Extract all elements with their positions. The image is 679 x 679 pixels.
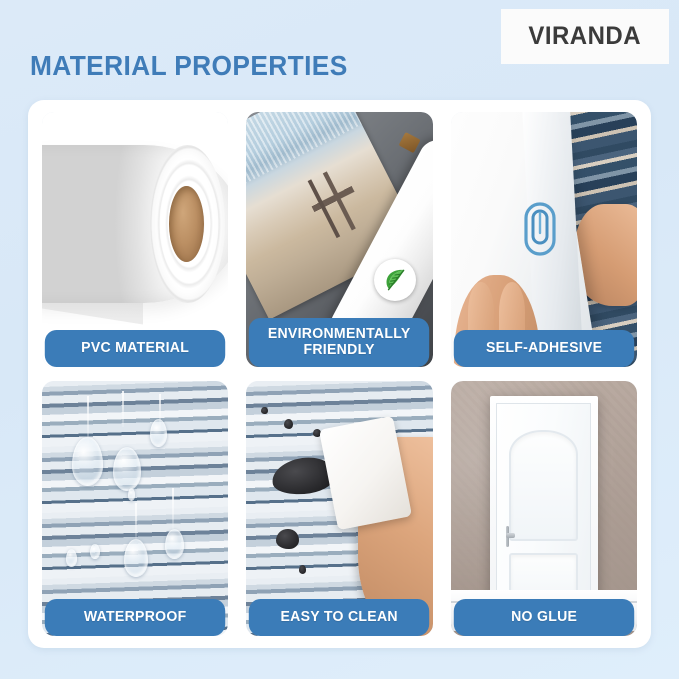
- feature-label-easy-to-clean: EASY TO CLEAN: [249, 599, 430, 636]
- page-title: MATERIAL PROPERTIES: [30, 50, 348, 82]
- feature-label-pvc-material: PVC MATERIAL: [45, 330, 226, 367]
- feature-tile-pvc-material[interactable]: PVC MATERIAL: [42, 112, 228, 367]
- brand-logo-box: VIRANDA: [501, 9, 669, 64]
- feature-tile-self-adhesive[interactable]: SELF-ADHESIVE: [451, 112, 637, 367]
- leaf-icon: [374, 259, 416, 301]
- feature-tile-environmentally-friendly[interactable]: ENVIRONMENTALLY FRIENDLY: [246, 112, 432, 367]
- feature-label-environmentally-friendly: ENVIRONMENTALLY FRIENDLY: [249, 318, 430, 367]
- wiping-cloth-image: [246, 381, 432, 636]
- peeling-backing-image: [451, 112, 637, 367]
- white-door-image: [451, 381, 637, 636]
- pvc-roll-image: [42, 112, 228, 367]
- feature-label-self-adhesive: SELF-ADHESIVE: [453, 330, 634, 367]
- feature-label-no-glue: NO GLUE: [453, 599, 634, 636]
- feature-tile-waterproof[interactable]: WATERPROOF: [42, 381, 228, 636]
- feature-label-waterproof: WATERPROOF: [45, 599, 226, 636]
- paperclip-icon: [518, 199, 562, 264]
- features-card: PVC MATERIAL ENVIRONMENTALLY FRIENDL: [28, 100, 651, 648]
- brand-name: VIRANDA: [529, 22, 642, 51]
- water-droplets-image: [42, 381, 228, 636]
- features-grid: PVC MATERIAL ENVIRONMENTALLY FRIENDL: [42, 112, 637, 636]
- feature-tile-easy-to-clean[interactable]: EASY TO CLEAN: [246, 381, 432, 636]
- feature-tile-no-glue[interactable]: NO GLUE: [451, 381, 637, 636]
